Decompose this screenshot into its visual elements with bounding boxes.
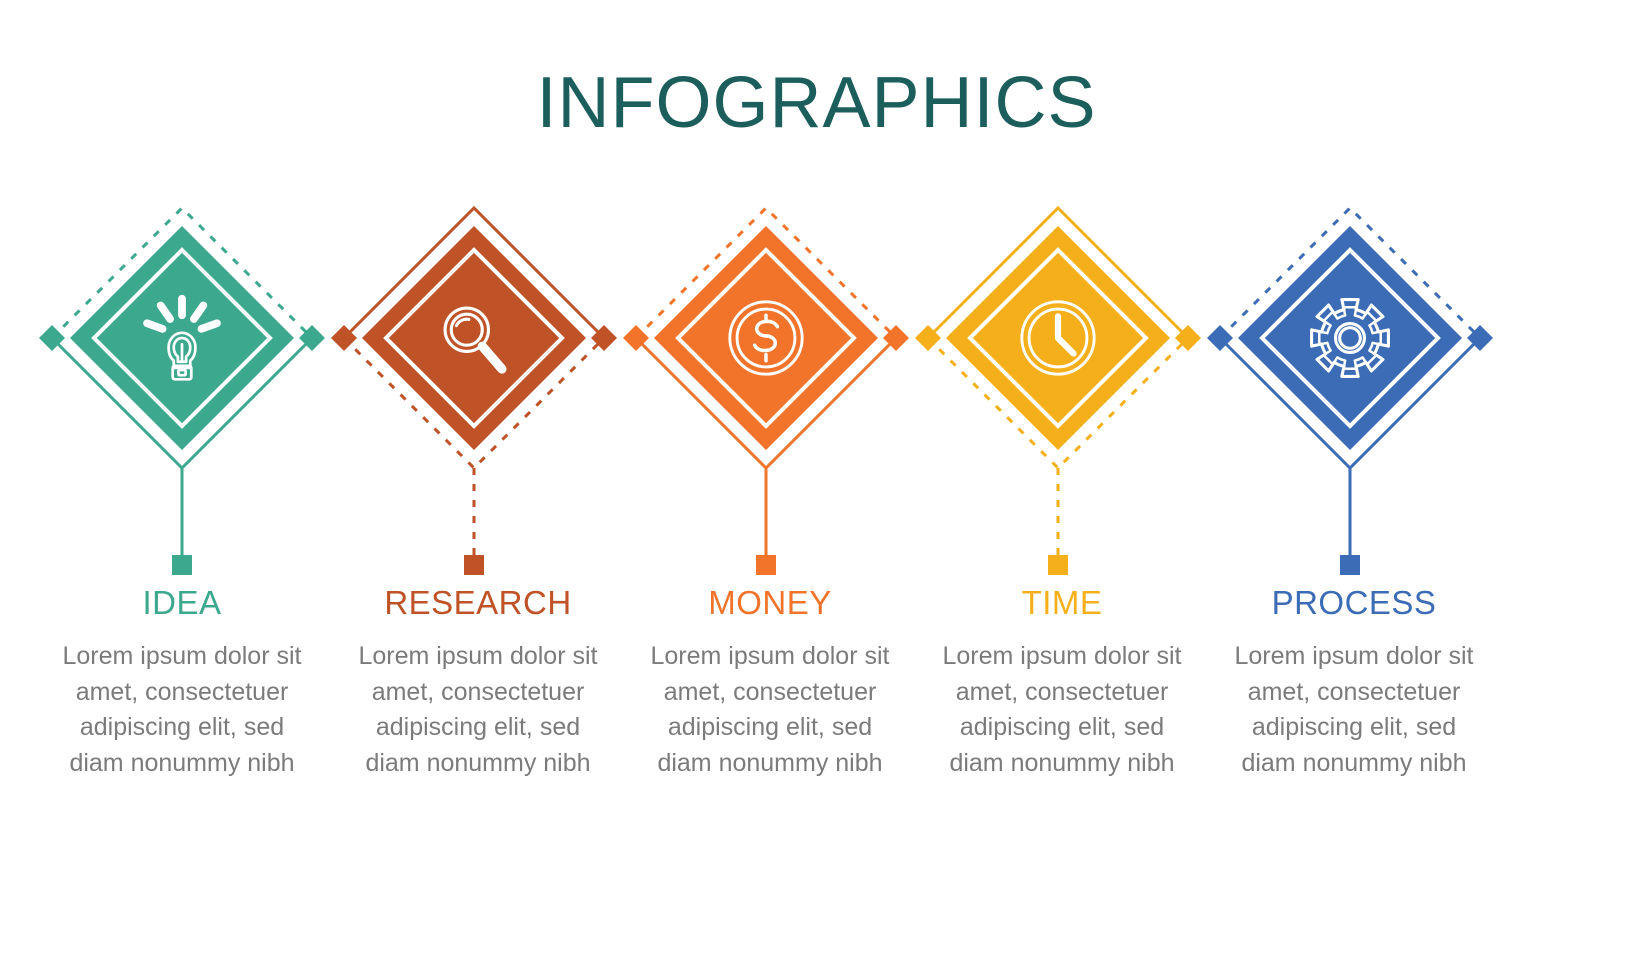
item-description-idea: Lorem ipsum dolor sit amet, consectetuer… — [37, 639, 327, 781]
diamond-group-time — [915, 208, 1201, 575]
diamond-fill[interactable] — [654, 226, 878, 450]
item-column-money: MONEY Lorem ipsum dolor sit amet, consec… — [625, 585, 915, 781]
diamond-group-idea — [39, 208, 325, 575]
item-column-process: PROCESS Lorem ipsum dolor sit amet, cons… — [1209, 585, 1499, 781]
diamond-group-process — [1207, 208, 1493, 575]
item-column-research: RESEARCH Lorem ipsum dolor sit amet, con… — [333, 585, 623, 781]
item-label-research: RESEARCH — [333, 585, 623, 621]
item-label-time: TIME — [917, 585, 1207, 621]
diamond-group-money — [623, 208, 909, 575]
stem-square-marker — [1048, 555, 1068, 575]
stem-square-marker — [172, 555, 192, 575]
item-description-time: Lorem ipsum dolor sit amet, consectetuer… — [917, 639, 1207, 781]
item-description-research: Lorem ipsum dolor sit amet, consectetuer… — [333, 639, 623, 781]
item-column-idea: IDEA Lorem ipsum dolor sit amet, consect… — [37, 585, 327, 781]
item-description-money: Lorem ipsum dolor sit amet, consectetuer… — [625, 639, 915, 781]
item-label-money: MONEY — [625, 585, 915, 621]
item-column-time: TIME Lorem ipsum dolor sit amet, consect… — [917, 585, 1207, 781]
stem-square-marker — [756, 555, 776, 575]
item-label-process: PROCESS — [1209, 585, 1499, 621]
diamond-fill[interactable] — [1238, 226, 1462, 450]
stem-square-marker — [1340, 555, 1360, 575]
stem-square-marker — [464, 555, 484, 575]
diamond-group-research — [331, 208, 617, 575]
diamond-fill[interactable] — [362, 226, 586, 450]
infographic-canvas: INFOGRAPHICS IDEA Lorem ipsum dolor sit … — [0, 0, 1633, 980]
item-description-process: Lorem ipsum dolor sit amet, consectetuer… — [1209, 639, 1499, 781]
item-label-idea: IDEA — [37, 585, 327, 621]
infographic-graphics — [0, 0, 1633, 980]
